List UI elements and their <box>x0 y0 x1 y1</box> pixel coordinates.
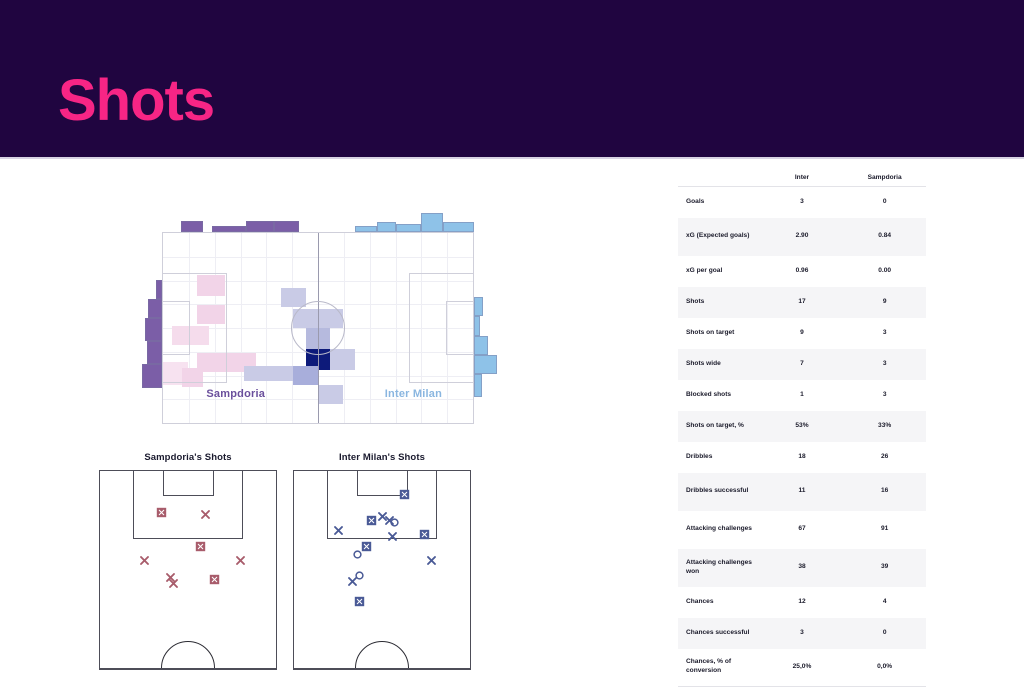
heatmap-histogram-bar-left <box>147 341 163 364</box>
stats-value-inter: 3 <box>761 187 844 218</box>
stats-value-sampdoria: 33% <box>843 411 926 442</box>
heatmap-cell <box>293 366 318 385</box>
shot-marker-goal <box>156 507 167 518</box>
stats-value-inter: 3 <box>761 618 844 649</box>
stats-metric-label: Goals <box>678 187 761 218</box>
stats-value-inter: 67 <box>761 511 844 549</box>
shot-map-center-circle <box>355 641 409 670</box>
stats-metric-label: Attacking challenges <box>678 511 761 549</box>
stats-row: Chances124 <box>678 587 926 618</box>
shot-map-pitch <box>293 470 471 670</box>
shot-marker-miss <box>333 525 344 536</box>
shot-map-goal-box <box>163 470 214 496</box>
shot-map-panel: Inter Milan's Shots <box>289 452 475 677</box>
heatmap-histogram-bar-top <box>377 222 396 232</box>
heatmap-histogram-bar-right <box>474 316 480 335</box>
match-stats-panel: Inter Sampdoria Goals30xG (Expected goal… <box>678 172 926 687</box>
shot-marker-goal <box>419 529 430 540</box>
shot-marker-goal <box>366 515 377 526</box>
stats-value-sampdoria: 0.00 <box>843 256 926 287</box>
stats-value-inter: 7 <box>761 349 844 380</box>
heatmap-goal-box-left <box>162 301 190 354</box>
shot-marker-goal <box>195 541 206 552</box>
heatmap-left-histogram <box>100 232 162 424</box>
stats-value-sampdoria: 4 <box>843 587 926 618</box>
heatmap-histogram-bar-top <box>396 224 421 232</box>
stats-row: Shots wide73 <box>678 349 926 380</box>
stats-metric-label: Shots on target <box>678 318 761 349</box>
stats-value-sampdoria: 3 <box>843 380 926 411</box>
stats-value-inter: 9 <box>761 318 844 349</box>
stats-value-inter: 0.96 <box>761 256 844 287</box>
stats-row: xG (Expected goals)2.900.84 <box>678 218 926 256</box>
page-title: Shots <box>58 72 214 130</box>
stats-col-metric <box>678 172 761 187</box>
heatmap-histogram-bar-top <box>181 221 203 232</box>
stats-table-body: Goals30xG (Expected goals)2.900.84xG per… <box>678 187 926 687</box>
stats-row: Goals30 <box>678 187 926 218</box>
stats-row: Attacking challenges won3839 <box>678 549 926 587</box>
heatmap-histogram-bar-left <box>142 364 162 387</box>
stats-value-sampdoria: 0.84 <box>843 218 926 256</box>
stats-row: Chances, % of conversion25,0%0,0% <box>678 649 926 687</box>
shot-marker-miss <box>387 531 398 542</box>
stats-value-inter: 17 <box>761 287 844 318</box>
stats-value-sampdoria: 0 <box>843 187 926 218</box>
stats-row: Shots on target, %53%33% <box>678 411 926 442</box>
shot-marker-miss <box>200 509 211 520</box>
stats-value-sampdoria: 16 <box>843 473 926 511</box>
stats-metric-label: Blocked shots <box>678 380 761 411</box>
shot-marker-miss <box>347 576 358 587</box>
stats-row: Dribbles1826 <box>678 442 926 473</box>
shot-map-halfway-line <box>100 668 276 669</box>
visualizations-column: Sampdoria Inter Milan Sampdoria's ShotsI… <box>0 160 660 683</box>
stats-metric-label: Dribbles <box>678 442 761 473</box>
stats-value-inter: 38 <box>761 549 844 587</box>
heatmap-cell <box>281 288 306 307</box>
heatmap-cell <box>318 385 343 404</box>
heatmap-histogram-bar-left <box>148 299 162 318</box>
heatmap-goal-box-right <box>446 301 474 354</box>
heatmap-cell <box>330 349 355 370</box>
stats-row: Blocked shots13 <box>678 380 926 411</box>
shot-map-center-circle <box>161 641 215 670</box>
stats-header-row: Inter Sampdoria <box>678 172 926 187</box>
shot-maps: Sampdoria's ShotsInter Milan's Shots <box>95 452 475 677</box>
heatmap-histogram-bar-top <box>246 221 274 232</box>
heatmap-center-circle <box>291 301 345 355</box>
page-header: Shots <box>0 0 1024 157</box>
shot-map-title: Sampdoria's Shots <box>95 452 281 463</box>
heatmap-right-histogram <box>474 232 540 424</box>
stats-value-sampdoria: 0 <box>843 618 926 649</box>
stats-row: Shots on target93 <box>678 318 926 349</box>
heatmap-label-sampdoria: Sampdoria <box>206 388 265 400</box>
stats-value-inter: 18 <box>761 442 844 473</box>
heatmap-histogram-bar-top <box>443 222 474 232</box>
heatmap-histogram-bar-right <box>474 297 483 316</box>
header-divider <box>0 157 1024 159</box>
heatmap-pitch: Sampdoria Inter Milan <box>162 232 474 424</box>
heatmap-histogram-bar-right <box>474 355 497 374</box>
heatmap-histogram-bar-top <box>421 213 443 232</box>
shot-marker-miss <box>235 555 246 566</box>
stats-value-inter: 11 <box>761 473 844 511</box>
stats-metric-label: xG per goal <box>678 256 761 287</box>
stats-value-inter: 2.90 <box>761 218 844 256</box>
stats-metric-label: Chances, % of conversion <box>678 649 761 687</box>
shot-map-title: Inter Milan's Shots <box>289 452 475 463</box>
stats-col-sampdoria: Sampdoria <box>843 172 926 187</box>
shot-marker-goal <box>209 574 220 585</box>
stats-value-sampdoria: 39 <box>843 549 926 587</box>
stats-row: Chances successful30 <box>678 618 926 649</box>
heatmap-histogram-bar-left <box>145 318 162 341</box>
shot-marker-save <box>352 549 363 560</box>
stats-value-sampdoria: 3 <box>843 318 926 349</box>
stats-row: Dribbles successful1116 <box>678 473 926 511</box>
stats-metric-label: Shots wide <box>678 349 761 380</box>
stats-value-inter: 12 <box>761 587 844 618</box>
match-stats-table: Inter Sampdoria Goals30xG (Expected goal… <box>678 172 926 687</box>
heatmap-histogram-bar-right <box>474 336 488 355</box>
heatmap-histogram-bar-right <box>474 374 482 397</box>
stats-table-head: Inter Sampdoria <box>678 172 926 187</box>
shot-marker-goal <box>354 596 365 607</box>
shot-map-pitch <box>99 470 277 670</box>
stats-metric-label: Chances successful <box>678 618 761 649</box>
shot-map-halfway-line <box>294 668 470 669</box>
stats-value-sampdoria: 91 <box>843 511 926 549</box>
shot-map-panel: Sampdoria's Shots <box>95 452 281 677</box>
stats-col-inter: Inter <box>761 172 844 187</box>
stats-row: Attacking challenges6791 <box>678 511 926 549</box>
stats-metric-label: Attacking challenges won <box>678 549 761 587</box>
stats-metric-label: xG (Expected goals) <box>678 218 761 256</box>
stats-value-inter: 25,0% <box>761 649 844 687</box>
stats-value-sampdoria: 3 <box>843 349 926 380</box>
stats-value-sampdoria: 9 <box>843 287 926 318</box>
shot-heatmap: Sampdoria Inter Milan <box>100 200 540 460</box>
stats-metric-label: Chances <box>678 587 761 618</box>
shot-marker-miss <box>168 578 179 589</box>
stats-row: Shots179 <box>678 287 926 318</box>
shot-marker-miss <box>426 555 437 566</box>
heatmap-label-inter-milan: Inter Milan <box>385 388 442 400</box>
stats-metric-label: Shots <box>678 287 761 318</box>
stats-value-inter: 53% <box>761 411 844 442</box>
stats-value-sampdoria: 0,0% <box>843 649 926 687</box>
shot-marker-miss <box>139 555 150 566</box>
stats-value-sampdoria: 26 <box>843 442 926 473</box>
shot-marker-goal <box>399 489 410 500</box>
heatmap-top-histogram <box>162 200 474 232</box>
shot-marker-save <box>389 517 400 528</box>
stats-metric-label: Dribbles successful <box>678 473 761 511</box>
stats-row: xG per goal0.960.00 <box>678 256 926 287</box>
stats-value-inter: 1 <box>761 380 844 411</box>
stats-metric-label: Shots on target, % <box>678 411 761 442</box>
heatmap-histogram-bar-top <box>274 221 299 232</box>
